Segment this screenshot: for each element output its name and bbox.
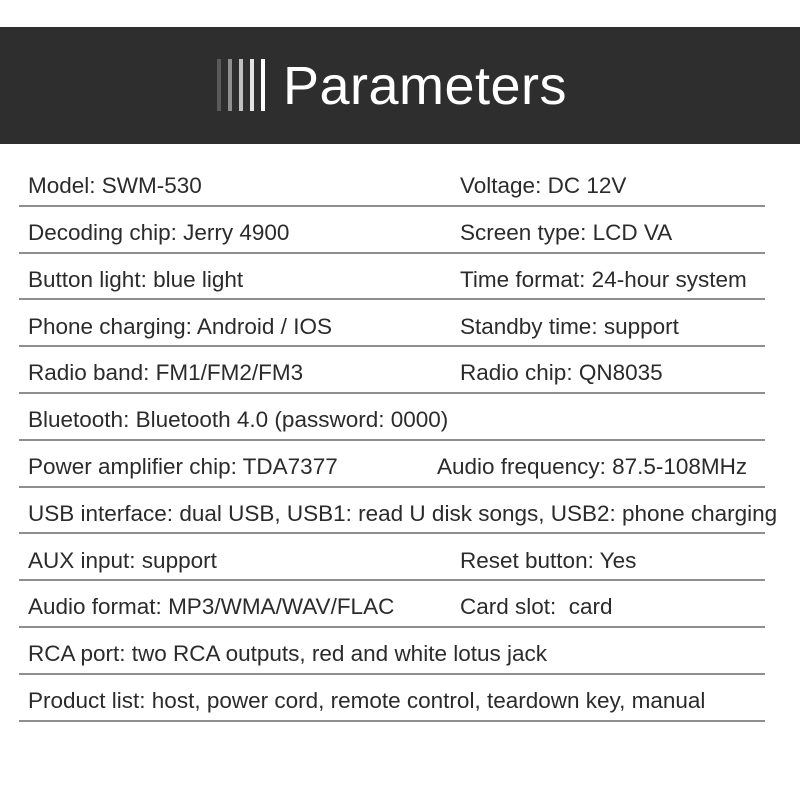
spec-cell-left: Phone charging: Android / IOS: [28, 316, 332, 339]
accent-bar-5: [261, 59, 265, 111]
spec-cell-left: Button light: blue light: [28, 269, 243, 292]
spec-cell-left: USB interface: dual USB, USB1: read U di…: [28, 503, 777, 526]
spec-cell-left: Decoding chip: Jerry 4900: [28, 222, 289, 245]
spec-row: Button light: blue lightTime format: 24-…: [19, 254, 765, 301]
spec-cell-left: Model: SWM-530: [28, 175, 202, 198]
spec-cell-right: Voltage: DC 12V: [460, 175, 626, 198]
accent-bar-2: [228, 59, 232, 111]
spec-cell-right: Standby time: support: [460, 316, 679, 339]
spec-row: Product list: host, power cord, remote c…: [19, 675, 765, 722]
header-banner: Parameters: [0, 27, 800, 144]
accent-bar-1: [217, 59, 221, 111]
spec-table: Model: SWM-530Voltage: DC 12VDecoding ch…: [19, 160, 765, 722]
spec-cell-right: Screen type: LCD VA: [460, 222, 672, 245]
bars-accent-icon: [217, 59, 265, 111]
spec-cell-right: Reset button: Yes: [460, 550, 636, 573]
spec-cell-right: Radio chip: QN8035: [460, 362, 663, 385]
spec-cell-left: Product list: host, power cord, remote c…: [28, 690, 705, 713]
spec-cell-left: Bluetooth: Bluetooth 4.0 (password: 0000…: [28, 409, 448, 432]
spec-row: Bluetooth: Bluetooth 4.0 (password: 0000…: [19, 394, 765, 441]
spec-cell-left: Radio band: FM1/FM2/FM3: [28, 362, 303, 385]
spec-cell-left: AUX input: support: [28, 550, 217, 573]
spec-cell-right: Card slot: card: [460, 596, 613, 619]
spec-cell-left: RCA port: two RCA outputs, red and white…: [28, 643, 547, 666]
spec-row: Power amplifier chip: TDA7377Audio frequ…: [19, 441, 765, 488]
spec-row: Model: SWM-530Voltage: DC 12V: [19, 160, 765, 207]
spec-cell-left: Power amplifier chip: TDA7377: [28, 456, 338, 479]
spec-row: Audio format: MP3/WMA/WAV/FLACCard slot:…: [19, 581, 765, 628]
spec-cell-left: Audio format: MP3/WMA/WAV/FLAC: [28, 596, 394, 619]
spec-cell-right: Audio frequency: 87.5-108MHz: [437, 456, 747, 479]
spec-cell-right: Time format: 24-hour system: [460, 269, 747, 292]
accent-bar-3: [239, 59, 243, 111]
spec-row: USB interface: dual USB, USB1: read U di…: [19, 488, 765, 535]
parameters-spec-sheet: Parameters Model: SWM-530Voltage: DC 12V…: [0, 0, 800, 800]
accent-bar-4: [250, 59, 254, 111]
spec-row: AUX input: supportReset button: Yes: [19, 534, 765, 581]
spec-row: Radio band: FM1/FM2/FM3Radio chip: QN803…: [19, 347, 765, 394]
page-title: Parameters: [283, 59, 567, 113]
header-content: Parameters: [217, 59, 567, 113]
spec-row: Decoding chip: Jerry 4900Screen type: LC…: [19, 207, 765, 254]
spec-row: Phone charging: Android / IOSStandby tim…: [19, 300, 765, 347]
spec-row: RCA port: two RCA outputs, red and white…: [19, 628, 765, 675]
